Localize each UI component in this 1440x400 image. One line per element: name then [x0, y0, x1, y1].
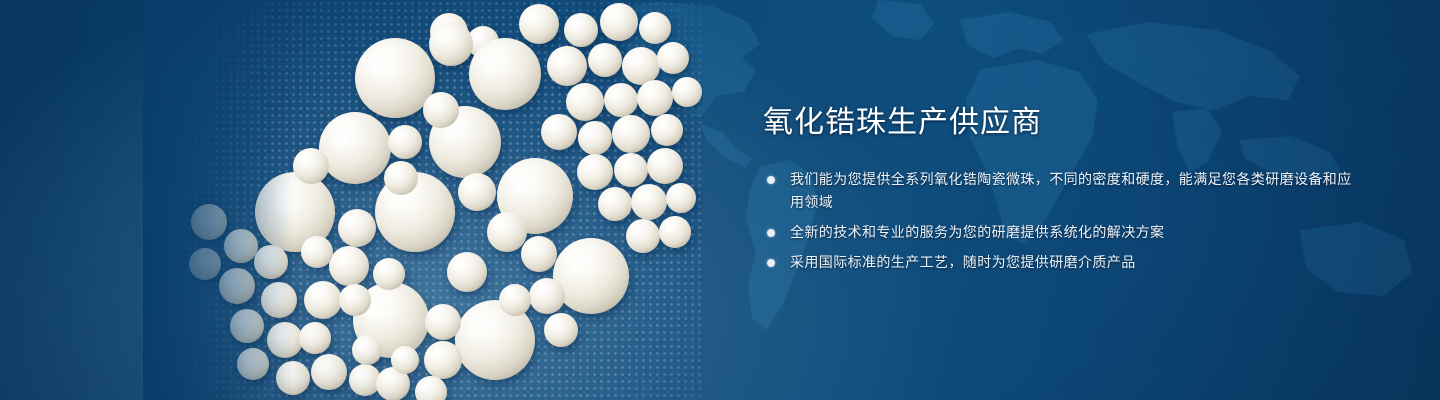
banner-copy: 氧化锆珠生产供应商 我们能为您提供全系列氧化锆陶瓷微珠，不同的密度和硬度，能满足… [763, 104, 1363, 274]
product-image [143, 0, 703, 400]
feature-text: 全新的技术和专业的服务为您的研磨提供系统化的解决方案 [790, 224, 1164, 240]
feature-text: 我们能为您提供全系列氧化锆陶瓷微珠，不同的密度和硬度，能满足您各类研磨设备和应用… [790, 171, 1352, 210]
feature-list-item: 采用国际标准的生产工艺，随时为您提供研磨介质产品 [763, 251, 1363, 274]
feature-text: 采用国际标准的生产工艺，随时为您提供研磨介质产品 [790, 254, 1136, 270]
hero-banner: 氧化锆珠生产供应商 我们能为您提供全系列氧化锆陶瓷微珠，不同的密度和硬度，能满足… [0, 0, 1440, 400]
feature-list-item: 我们能为您提供全系列氧化锆陶瓷微珠，不同的密度和硬度，能满足您各类研磨设备和应用… [763, 168, 1363, 214]
zirconia-beads-illustration [143, 0, 703, 400]
feature-list: 我们能为您提供全系列氧化锆陶瓷微珠，不同的密度和硬度，能满足您各类研磨设备和应用… [763, 168, 1363, 274]
dot-icon [767, 176, 775, 184]
banner-headline: 氧化锆珠生产供应商 [763, 104, 1363, 142]
feature-list-item: 全新的技术和专业的服务为您的研磨提供系统化的解决方案 [763, 221, 1363, 244]
dot-icon [767, 259, 775, 267]
dot-icon [767, 229, 775, 237]
